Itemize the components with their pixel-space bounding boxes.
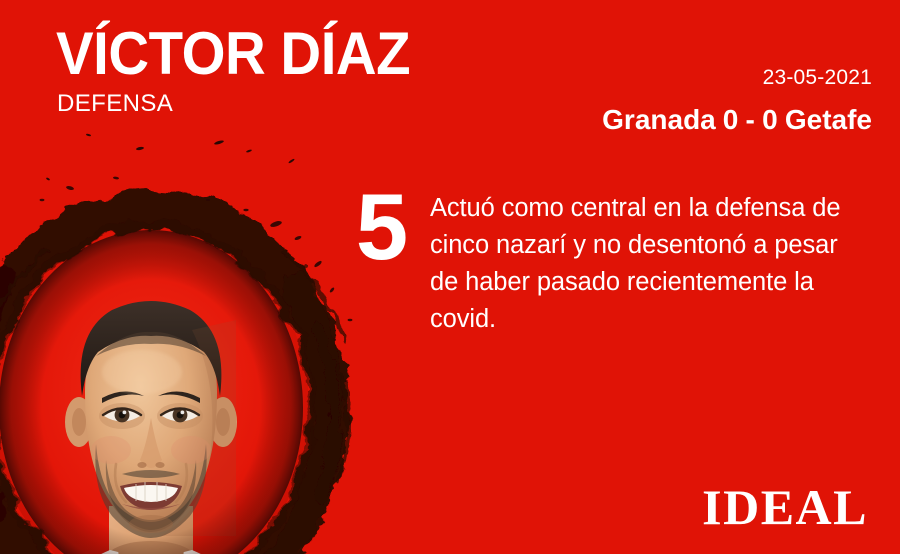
brush-speck xyxy=(214,140,224,146)
page-title: VÍCTOR DÍAZ xyxy=(56,24,410,84)
score-separator: - xyxy=(746,104,756,135)
player-rating-card: VÍCTOR DÍAZ DEFENSA 23-05-2021 Granada0-… xyxy=(0,0,900,554)
brush-speck xyxy=(246,149,252,153)
player-position-label: DEFENSA xyxy=(57,92,173,116)
match-date: 23-05-2021 xyxy=(763,67,872,88)
brush-speck xyxy=(136,146,144,150)
brand-logo: IDEAL xyxy=(702,482,868,532)
brush-speck xyxy=(86,133,91,136)
away-team-score: 0 xyxy=(755,104,785,135)
rating-score: 5 xyxy=(347,180,417,274)
home-team-name: Granada xyxy=(602,104,716,135)
away-team-name: Getafe xyxy=(785,104,872,135)
match-result: Granada0-0Getafe xyxy=(602,106,872,134)
home-team-score: 0 xyxy=(716,104,746,135)
rating-comment: Actuó como central en la defensa de cinc… xyxy=(430,190,866,338)
